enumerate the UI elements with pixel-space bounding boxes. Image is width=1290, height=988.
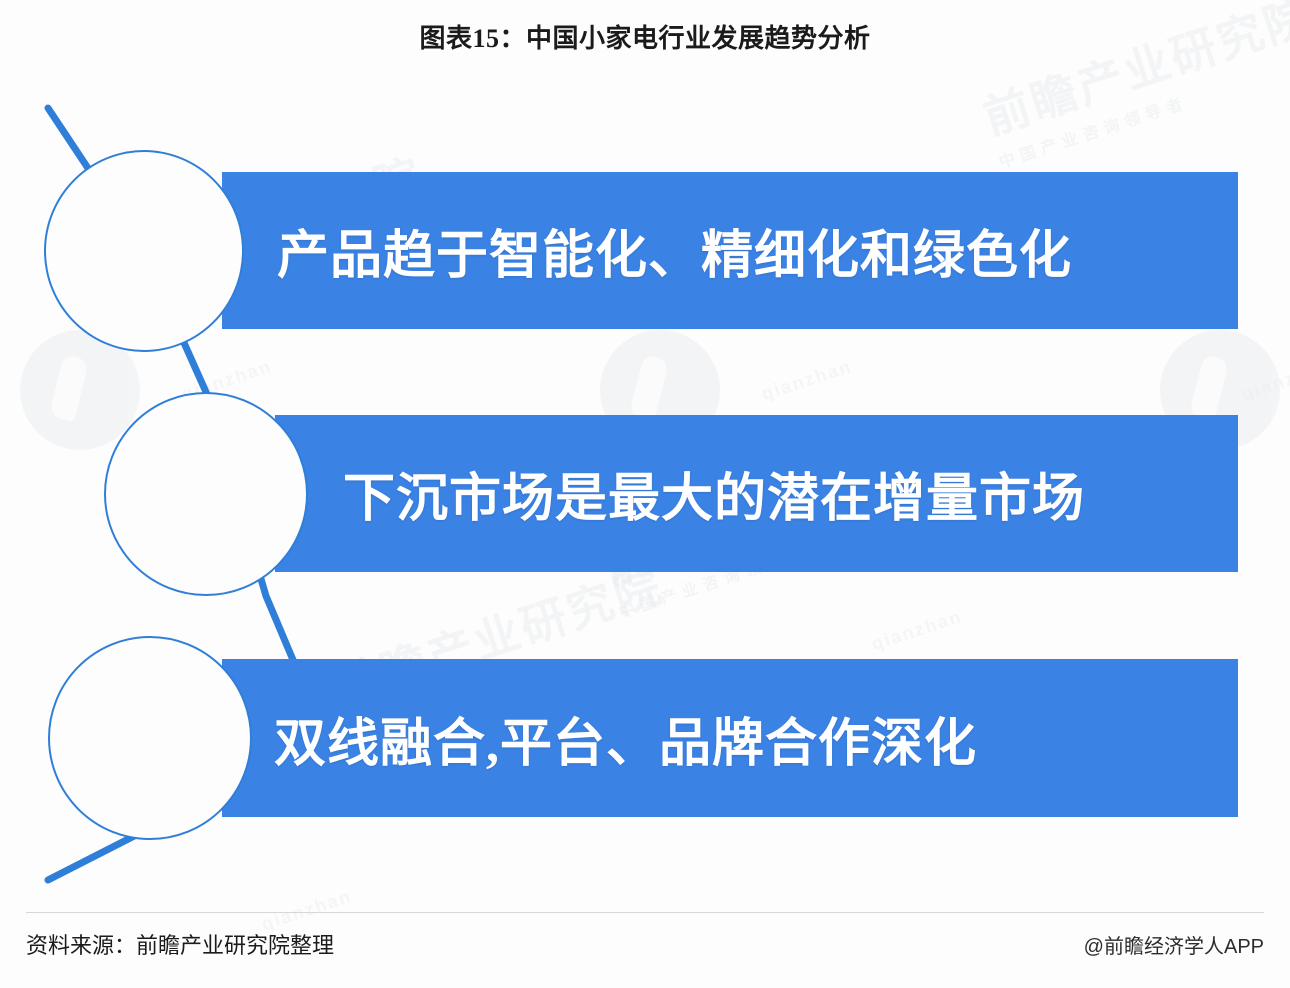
infographic-canvas: 前瞻产业研究院 中国产业咨询领导者 前瞻产业研究院 中国产业咨询领导者 前瞻产业…: [0, 0, 1290, 988]
trend-node-3[interactable]: [48, 636, 252, 840]
trend-bar-1[interactable]: 产品趋于智能化、精细化和绿色化: [222, 172, 1238, 329]
footer-divider: [26, 912, 1264, 913]
trend-node-2[interactable]: [104, 392, 308, 596]
trend-bar-label-3: 双线融合,平台、品牌合作深化: [274, 701, 977, 776]
trend-bar-2[interactable]: 下沉市场是最大的潜在增量市场: [275, 415, 1238, 572]
trend-bar-3[interactable]: 双线融合,平台、品牌合作深化: [222, 659, 1238, 817]
trend-node-1[interactable]: [44, 150, 244, 352]
source-note: 资料来源：前瞻产业研究院整理: [26, 928, 334, 960]
trend-bar-label-2: 下沉市场是最大的潜在增量市场: [343, 456, 1085, 531]
trend-bar-label-1: 产品趋于智能化、精细化和绿色化: [277, 213, 1072, 288]
credit-note: @前瞻经济学人APP: [1084, 930, 1264, 959]
content-layer: 图表15：中国小家电行业发展趋势分析 产品趋于智能化、精细化和绿色化 下沉市场是…: [0, 0, 1290, 988]
